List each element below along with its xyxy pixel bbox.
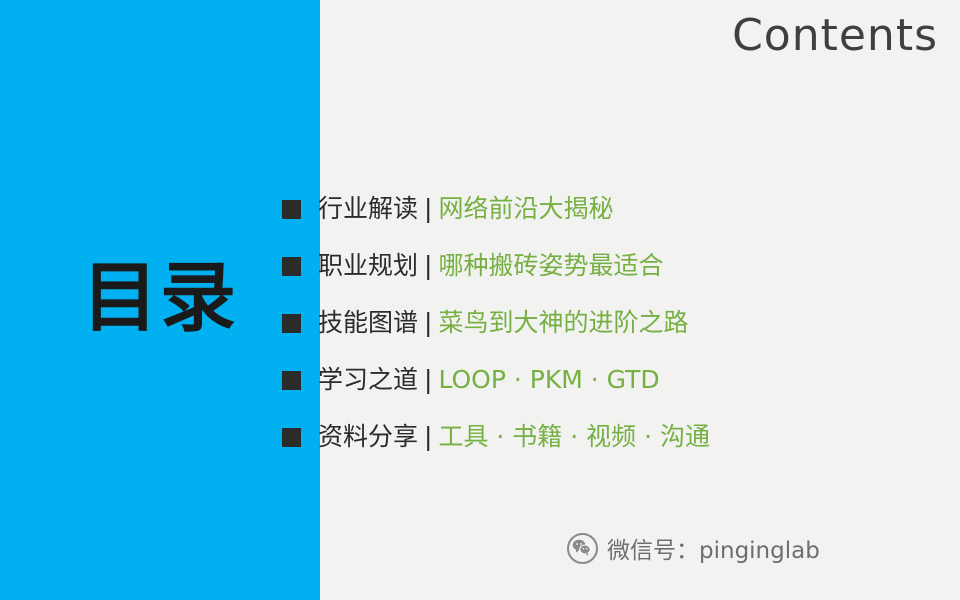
list-item[interactable]: 职业规划|哪种搬砖姿势最适合 [282, 240, 942, 292]
slide: 目录 Contents 行业解读|网络前沿大揭秘 职业规划|哪种搬砖姿势最适合 … [0, 0, 960, 600]
footer-watermark: 微信号：pinginglab [567, 531, 820, 565]
list-item-separator: | [418, 365, 438, 394]
footer-text: 微信号：pinginglab [607, 531, 820, 565]
list-item-description: 菜鸟到大神的进阶之路 [438, 308, 688, 337]
list-item-separator: | [418, 251, 438, 280]
list-item[interactable]: 资料分享|工具 · 书籍 · 视频 · 沟通 [282, 411, 942, 463]
contents-list: 行业解读|网络前沿大揭秘 职业规划|哪种搬砖姿势最适合 技能图谱|菜鸟到大神的进… [282, 183, 942, 468]
left-accent-panel: 目录 [0, 0, 320, 600]
square-bullet-icon [282, 371, 301, 390]
list-item-text: 资料分享|工具 · 书籍 · 视频 · 沟通 [318, 421, 710, 453]
list-item-text: 技能图谱|菜鸟到大神的进阶之路 [318, 307, 688, 339]
list-item-text: 学习之道|LOOP · PKM · GTD [318, 364, 660, 396]
list-item-label: 学习之道 [318, 365, 418, 394]
square-bullet-icon [282, 428, 301, 447]
list-item-description: 网络前沿大揭秘 [438, 194, 613, 223]
list-item-text: 职业规划|哪种搬砖姿势最适合 [318, 250, 663, 282]
list-item-separator: | [418, 194, 438, 223]
list-item-separator: | [418, 308, 438, 337]
square-bullet-icon [282, 200, 301, 219]
list-item-label: 技能图谱 [318, 308, 418, 337]
list-item-label: 行业解读 [318, 194, 418, 223]
list-item-text: 行业解读|网络前沿大揭秘 [318, 193, 613, 225]
list-item[interactable]: 学习之道|LOOP · PKM · GTD [282, 354, 942, 406]
square-bullet-icon [282, 257, 301, 276]
list-item[interactable]: 技能图谱|菜鸟到大神的进阶之路 [282, 297, 942, 349]
list-item-separator: | [418, 422, 438, 451]
list-item-description: LOOP · PKM · GTD [438, 365, 659, 394]
page-title: Contents [732, 8, 938, 64]
slide-title-cn: 目录 [0, 255, 320, 341]
list-item-description: 哪种搬砖姿势最适合 [438, 251, 663, 280]
list-item-description: 工具 · 书籍 · 视频 · 沟通 [438, 422, 710, 451]
list-item[interactable]: 行业解读|网络前沿大揭秘 [282, 183, 942, 235]
wechat-icon [567, 533, 598, 564]
list-item-label: 职业规划 [318, 251, 418, 280]
list-item-label: 资料分享 [318, 422, 418, 451]
square-bullet-icon [282, 314, 301, 333]
